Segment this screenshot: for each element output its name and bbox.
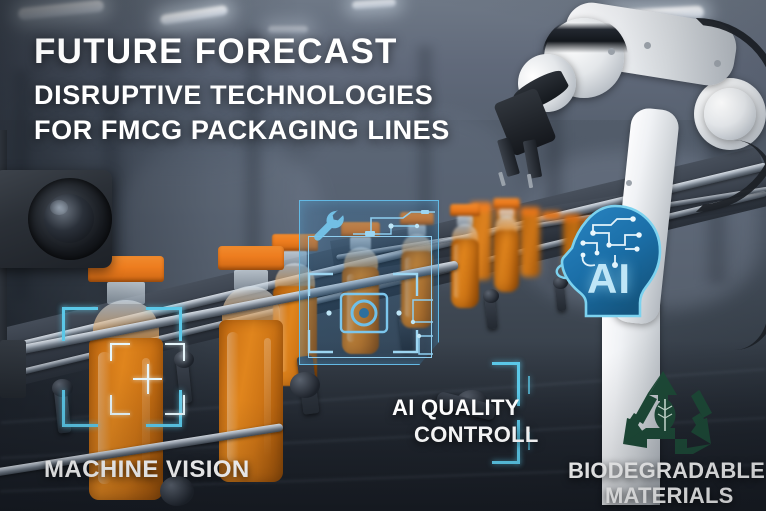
poster-canvas: FUTURE FORECAST DISRUPTIVE TECHNOLOGIES … [0,0,766,511]
vignette-overlay [0,0,766,511]
